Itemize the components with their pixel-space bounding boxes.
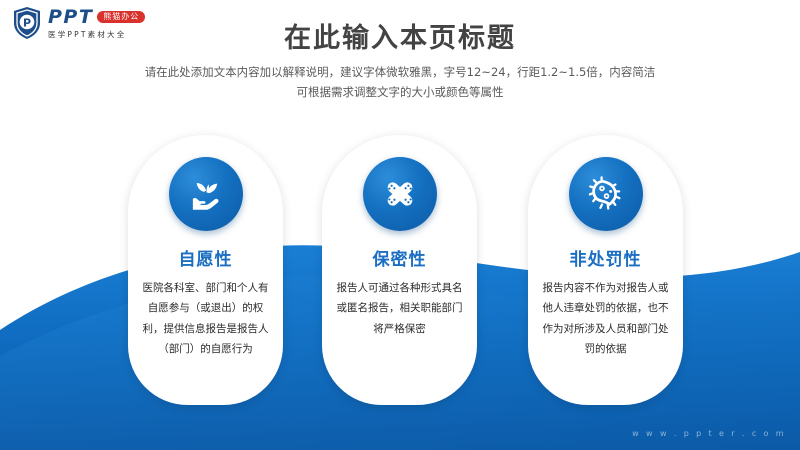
logo-badge: 熊猫办公 [97,11,145,23]
page-subtitle: 请在此处添加文本内容加以解释说明，建议字体微软雅黑，字号12~24，行距1.2~… [0,62,800,102]
feature-card[interactable]: 自愿性 医院各科室、部门和个人有自愿参与（或退出）的权利，提供信息报告是报告人（… [128,135,283,405]
bacteria-icon [569,157,643,231]
card-body: 报告人可通过各种形式具名或匿名报告，相关职能部门将严格保密 [336,278,464,339]
card-body: 报告内容不作为对报告人或他人违章处罚的依据，也不作为对所涉及人员和部门处罚的依据 [542,278,670,360]
brand-logo[interactable]: P PPT 熊猫办公 医学PPT素材大全 [12,6,145,40]
card-title: 自愿性 [179,245,233,270]
slide-canvas: P PPT 熊猫办公 医学PPT素材大全 在此输入本页标题 请在此处添加文本内容… [0,0,800,450]
card-title: 非处罚性 [570,245,642,270]
watermark: w w w . p p t e r . c o m [632,429,786,438]
shield-icon: P [12,6,42,40]
feature-card[interactable]: 保密性 报告人可通过各种形式具名或匿名报告，相关职能部门将严格保密 [322,135,477,405]
crossed-bandage-icon [363,157,437,231]
subtitle-line-2: 可根据需求调整文字的大小或颜色等属性 [0,82,800,102]
svg-text:P: P [23,16,31,29]
hand-holding-leaf-icon [169,157,243,231]
card-body: 医院各科室、部门和个人有自愿参与（或退出）的权利，提供信息报告是报告人（部门）的… [142,278,270,360]
logo-subtitle: 医学PPT素材大全 [48,29,145,40]
subtitle-line-1: 请在此处添加文本内容加以解释说明，建议字体微软雅黑，字号12~24，行距1.2~… [0,62,800,82]
logo-brand-text: PPT [48,6,93,28]
card-title: 保密性 [373,245,427,270]
feature-card[interactable]: 非处罚性 报告内容不作为对报告人或他人违章处罚的依据，也不作为对所涉及人员和部门… [528,135,683,405]
